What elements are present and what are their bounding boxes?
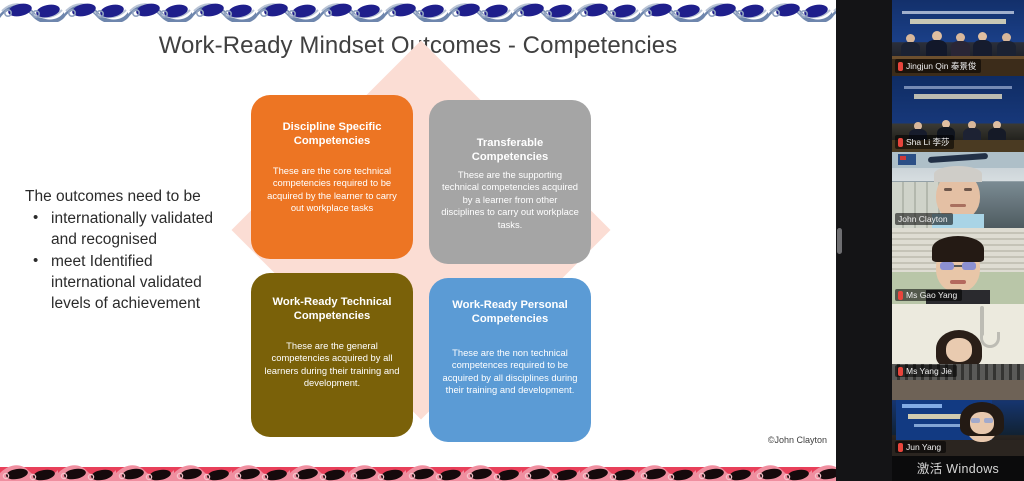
quadrant-body: These are the general competencies acqui… [262,340,402,390]
video-tile-participant-3[interactable]: John Clayton [892,152,1024,228]
participant-name: Ms Yang Jie [906,366,952,376]
video-tile-participant-4[interactable]: Ms Gao Yang [892,228,1024,304]
panel-splitter[interactable] [836,0,892,481]
outcomes-text-block: The outcomes need to be internationally … [25,186,240,315]
participant-name: Ms Gao Yang [906,290,957,300]
shared-slide[interactable]: Work-Ready Mindset Outcomes - Competenci… [0,0,836,481]
microphone-muted-icon [898,138,903,147]
participant-name-label: Ms Gao Yang [895,289,962,301]
quadrant-body: These are the core technical competencie… [262,165,402,215]
participant-name: Sha Li 李莎 [906,136,949,148]
participant-name: John Clayton [898,214,948,224]
outcomes-lead-text: The outcomes need to be [25,186,240,207]
kowhaiwhai-top-border-decoration [0,0,836,22]
participant-name-label: Sha Li 李莎 [895,135,954,149]
quadrant-work-ready-technical[interactable]: Work-Ready Technical Competencies These … [251,273,413,437]
outcomes-bullet-1: internationally validated and recognised [25,208,240,250]
quadrant-body: These are the non technical competences … [440,347,580,397]
quadrant-discipline-specific[interactable]: Discipline Specific Competencies These a… [251,95,413,259]
copyright-notice: ©John Clayton [768,435,827,445]
participant-video-filmstrip[interactable]: Jingjun Qin 秦景俊 Sha Li 李莎 [892,0,1024,481]
quadrant-title: Work-Ready Personal Competencies [440,298,580,326]
outcomes-bullet-2: meet Identified international validated … [25,251,240,314]
video-tile-participant-6[interactable]: Jun Yang [892,380,1024,456]
splitter-drag-handle[interactable] [837,228,842,254]
quadrant-body: These are the supporting technical compe… [440,169,580,231]
competency-quadrant-diagram: Discipline Specific Competencies These a… [251,95,591,436]
outcomes-bullet-list: internationally validated and recognised… [25,208,240,314]
participant-name-label: Ms Yang Jie [895,365,957,377]
quadrant-title: Transferable Competencies [440,136,580,164]
participant-name: Jun Yang [906,442,941,452]
video-tile-participant-1[interactable]: Jingjun Qin 秦景俊 [892,0,1024,76]
microphone-muted-icon [898,443,903,452]
quadrant-title: Discipline Specific Competencies [262,120,402,148]
participant-name: Jingjun Qin 秦景俊 [906,60,976,72]
video-tile-participant-2[interactable]: Sha Li 李莎 [892,76,1024,152]
participant-name-label: John Clayton [895,213,953,225]
video-tile-participant-5[interactable]: Ms Yang Jie [892,304,1024,380]
kowhaiwhai-bottom-border-decoration [0,453,836,481]
meeting-screen-share-window: Work-Ready Mindset Outcomes - Competenci… [0,0,1024,481]
quadrant-work-ready-personal[interactable]: Work-Ready Personal Competencies These a… [429,278,591,442]
quadrant-title: Work-Ready Technical Competencies [262,295,402,323]
microphone-muted-icon [898,291,903,300]
windows-activation-watermark: 激活 Windows [892,458,1024,477]
quadrant-transferable[interactable]: Transferable Competencies These are the … [429,100,591,264]
microphone-muted-icon [898,367,903,376]
microphone-muted-icon [898,62,903,71]
participant-name-label: Jingjun Qin 秦景俊 [895,59,981,73]
participant-name-label: Jun Yang [895,441,946,453]
